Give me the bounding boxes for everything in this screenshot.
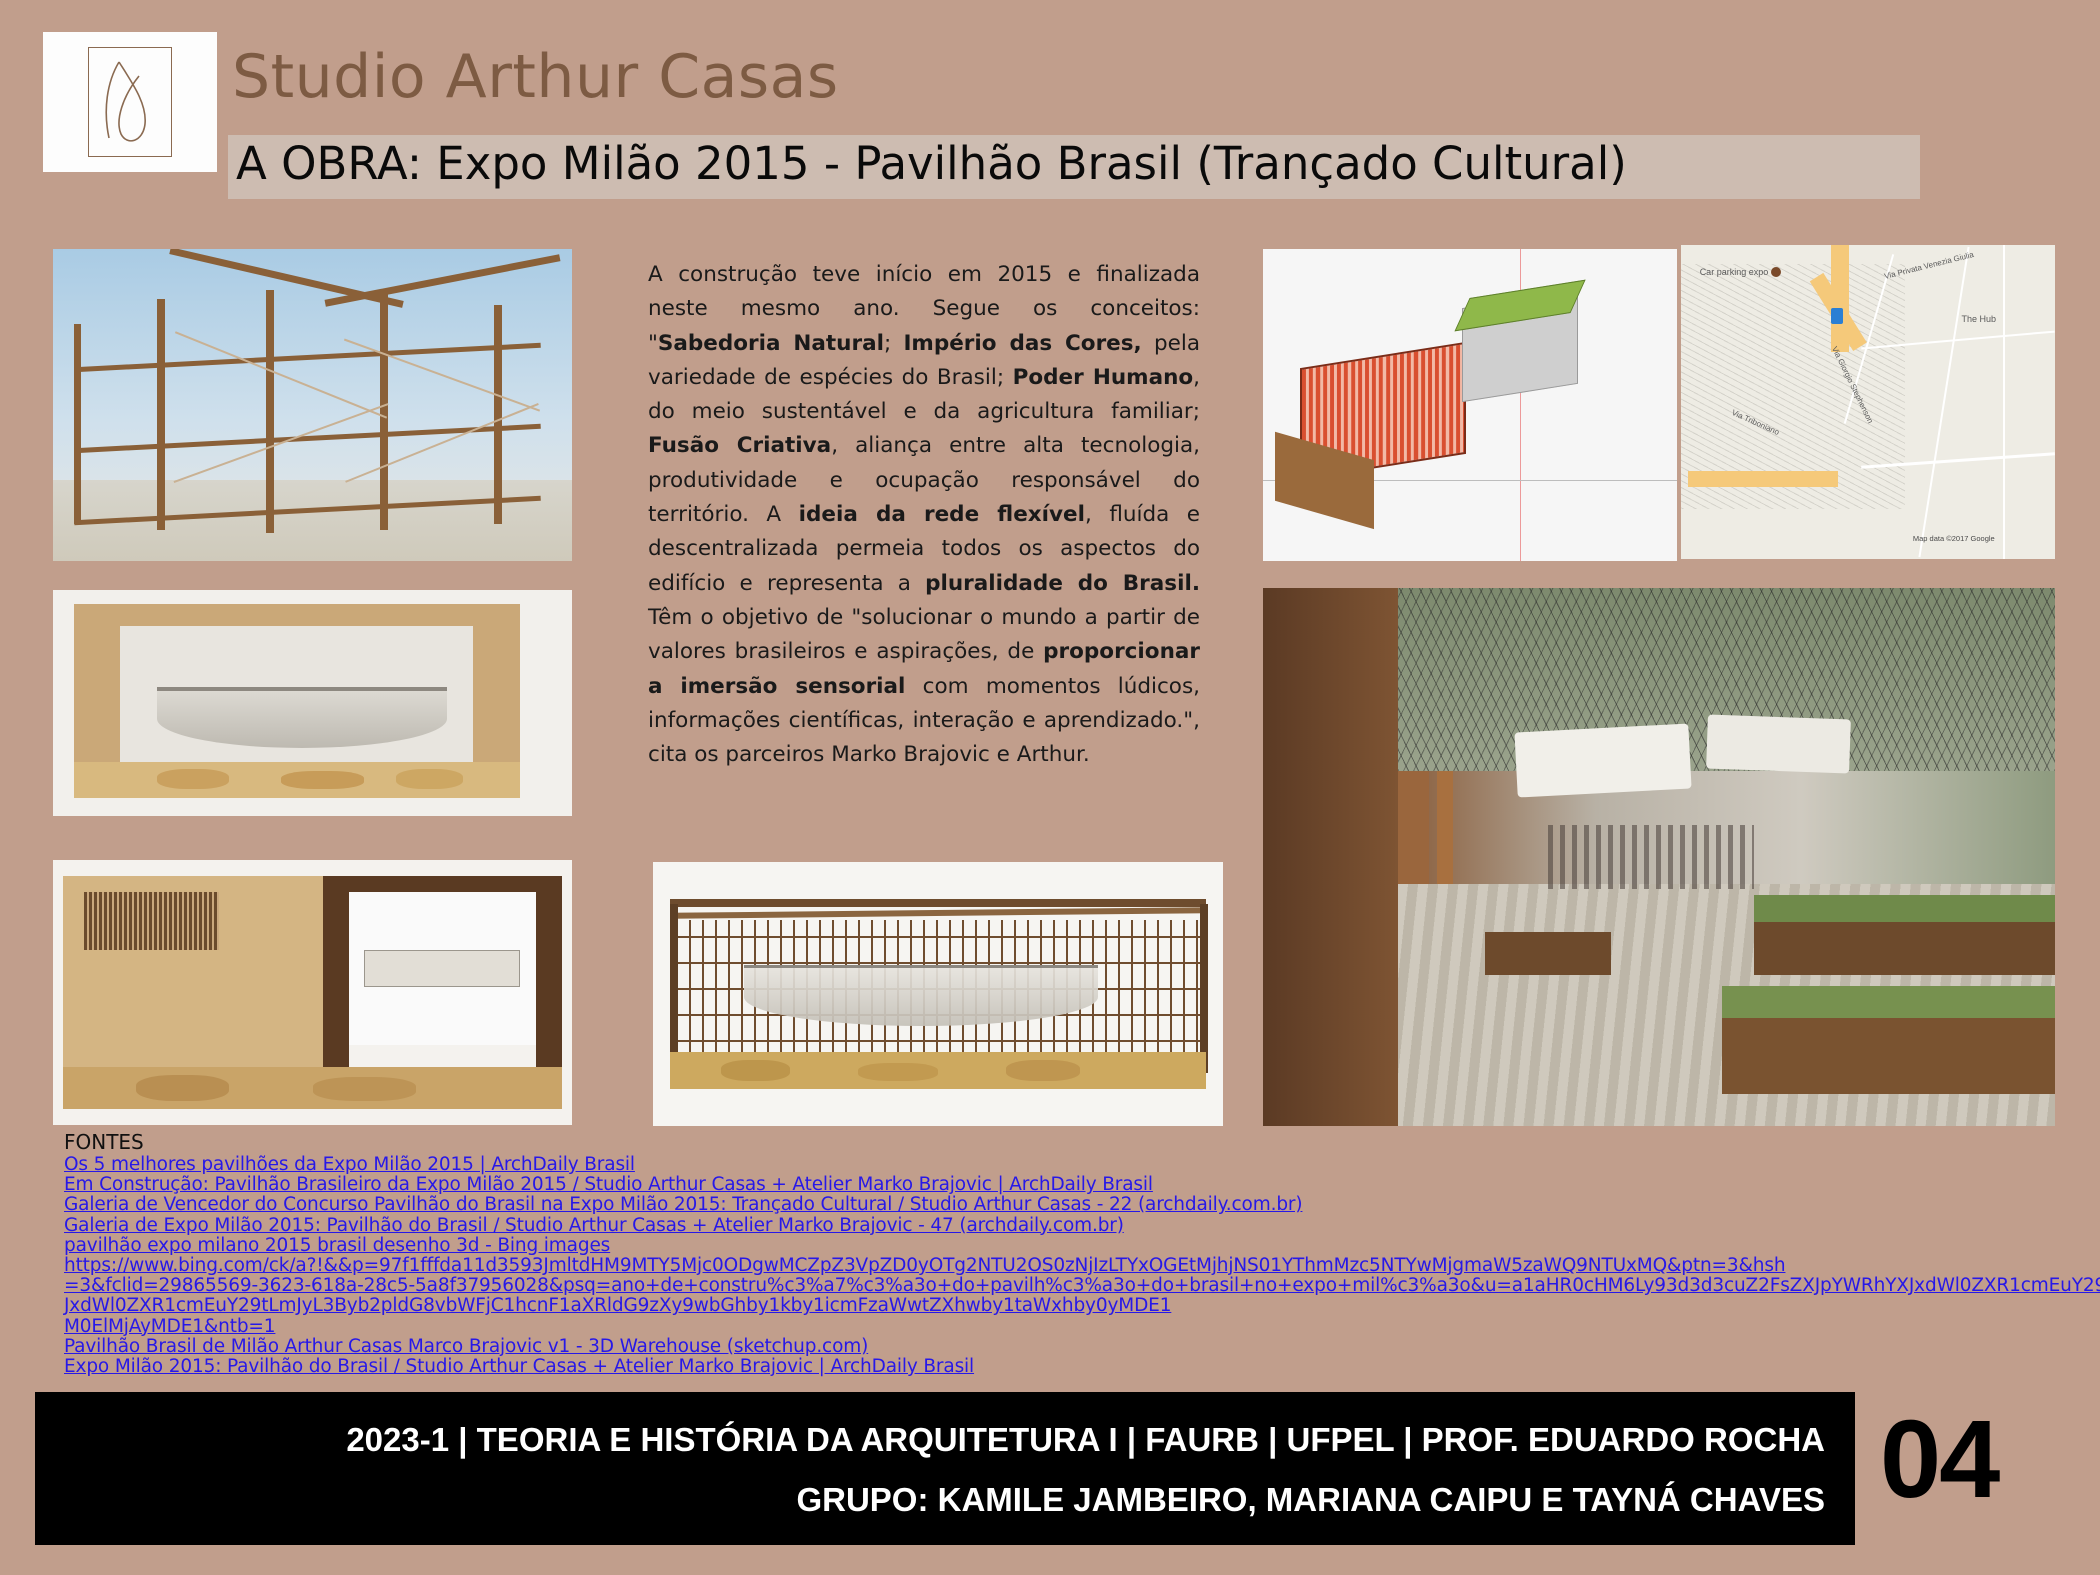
image-model-full	[653, 862, 1223, 1126]
map-label-car-parking: Car parking expo	[1700, 267, 1769, 277]
poster-header: Studio Arthur Casas A OBRA: Expo Milão 2…	[0, 0, 2100, 232]
image-model-interior	[53, 590, 572, 816]
map-label-hub: The Hub	[1962, 314, 1997, 324]
source-link-url[interactable]: JxdWl0ZXR1cmEuY29tLmJyL3Byb2pldG8vbWFjC1…	[64, 1296, 1764, 1316]
image-interior-walkway	[1263, 588, 2055, 1126]
source-link[interactable]: Pavilhão Brasil de Milão Arthur Casas Ma…	[64, 1337, 1764, 1357]
source-link[interactable]: Em Construção: Pavilhão Brasileiro da Ex…	[64, 1175, 1764, 1195]
image-sketchup-model	[1263, 249, 1677, 561]
source-link-url[interactable]: https://www.bing.com/ck/a?!&&p=97f1fffda…	[64, 1256, 1764, 1276]
footer-course-line: 2023-1 | TEORIA E HISTÓRIA DA ARQUITETUR…	[35, 1410, 1825, 1470]
image-frame-exterior	[53, 249, 572, 561]
image-location-map: Car parking expo The Hub Via Privata Ven…	[1681, 245, 2055, 559]
footer-banner: 2023-1 | TEORIA E HISTÓRIA DA ARQUITETUR…	[35, 1392, 1855, 1545]
source-link[interactable]: Os 5 melhores pavilhões da Expo Milão 20…	[64, 1155, 1764, 1175]
map-parking-icon	[1771, 267, 1781, 277]
studio-logo	[43, 32, 217, 172]
source-link[interactable]: pavilhão expo milano 2015 brasil desenho…	[64, 1236, 1764, 1256]
source-link-url[interactable]: M0ElMjAyMDE1&ntb=1	[64, 1317, 1764, 1337]
image-model-facade	[53, 860, 572, 1125]
page-title: A OBRA: Expo Milão 2015 - Pavilhão Brasi…	[236, 137, 1627, 190]
page-number: 04	[1880, 1396, 1998, 1523]
source-link[interactable]: Expo Milão 2015: Pavilhão do Brasil / St…	[64, 1357, 1764, 1377]
source-link[interactable]: Galeria de Expo Milão 2015: Pavilhão do …	[64, 1216, 1764, 1236]
studio-name: Studio Arthur Casas	[232, 42, 839, 112]
source-link-url[interactable]: =3&fclid=29865569-3623-618a-28c5-5a8f379…	[64, 1276, 1764, 1296]
body-paragraph: A construção teve início em 2015 e final…	[648, 258, 1200, 772]
map-attribution: Map data ©2017 Google	[1913, 534, 1995, 543]
logo-mark-icon	[88, 47, 172, 157]
sources-section: FONTES Os 5 melhores pavilhões da Expo M…	[64, 1130, 1764, 1377]
source-link[interactable]: Galeria de Vencedor do Concurso Pavilhão…	[64, 1195, 1764, 1215]
sources-title: FONTES	[64, 1130, 1764, 1154]
footer-group-line: GRUPO: KAMILE JAMBEIRO, MARIANA CAIPU E …	[35, 1470, 1825, 1530]
